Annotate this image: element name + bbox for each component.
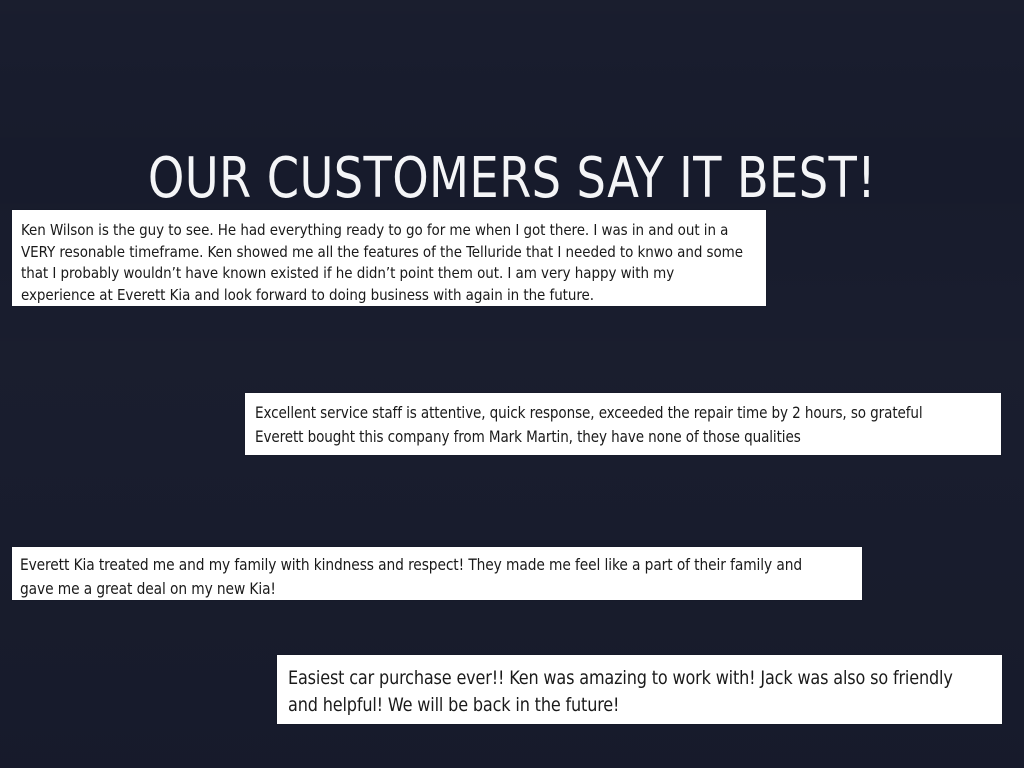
testimonial-card-3: Everett Kia treated me and my family wit… [12, 547, 862, 600]
testimonial-card-4: Easiest car purchase ever!! Ken was amaz… [277, 655, 1002, 724]
testimonial-card-1: Ken Wilson is the guy to see. He had eve… [12, 210, 766, 306]
testimonial-card-2: Excellent service staff is attentive, qu… [245, 393, 1001, 455]
testimonial-text-1: Ken Wilson is the guy to see. He had eve… [21, 220, 746, 306]
testimonial-text-3: Everett Kia treated me and my family wit… [20, 553, 829, 601]
testimonial-text-2: Excellent service staff is attentive, qu… [255, 401, 965, 449]
page-title: OUR CUSTOMERS SAY IT BEST! [41, 150, 983, 209]
testimonial-text-4: Easiest car purchase ever!! Ken was amaz… [288, 665, 970, 719]
presentation-slide: OUR CUSTOMERS SAY IT BEST! Ken Wilson is… [0, 0, 1024, 768]
